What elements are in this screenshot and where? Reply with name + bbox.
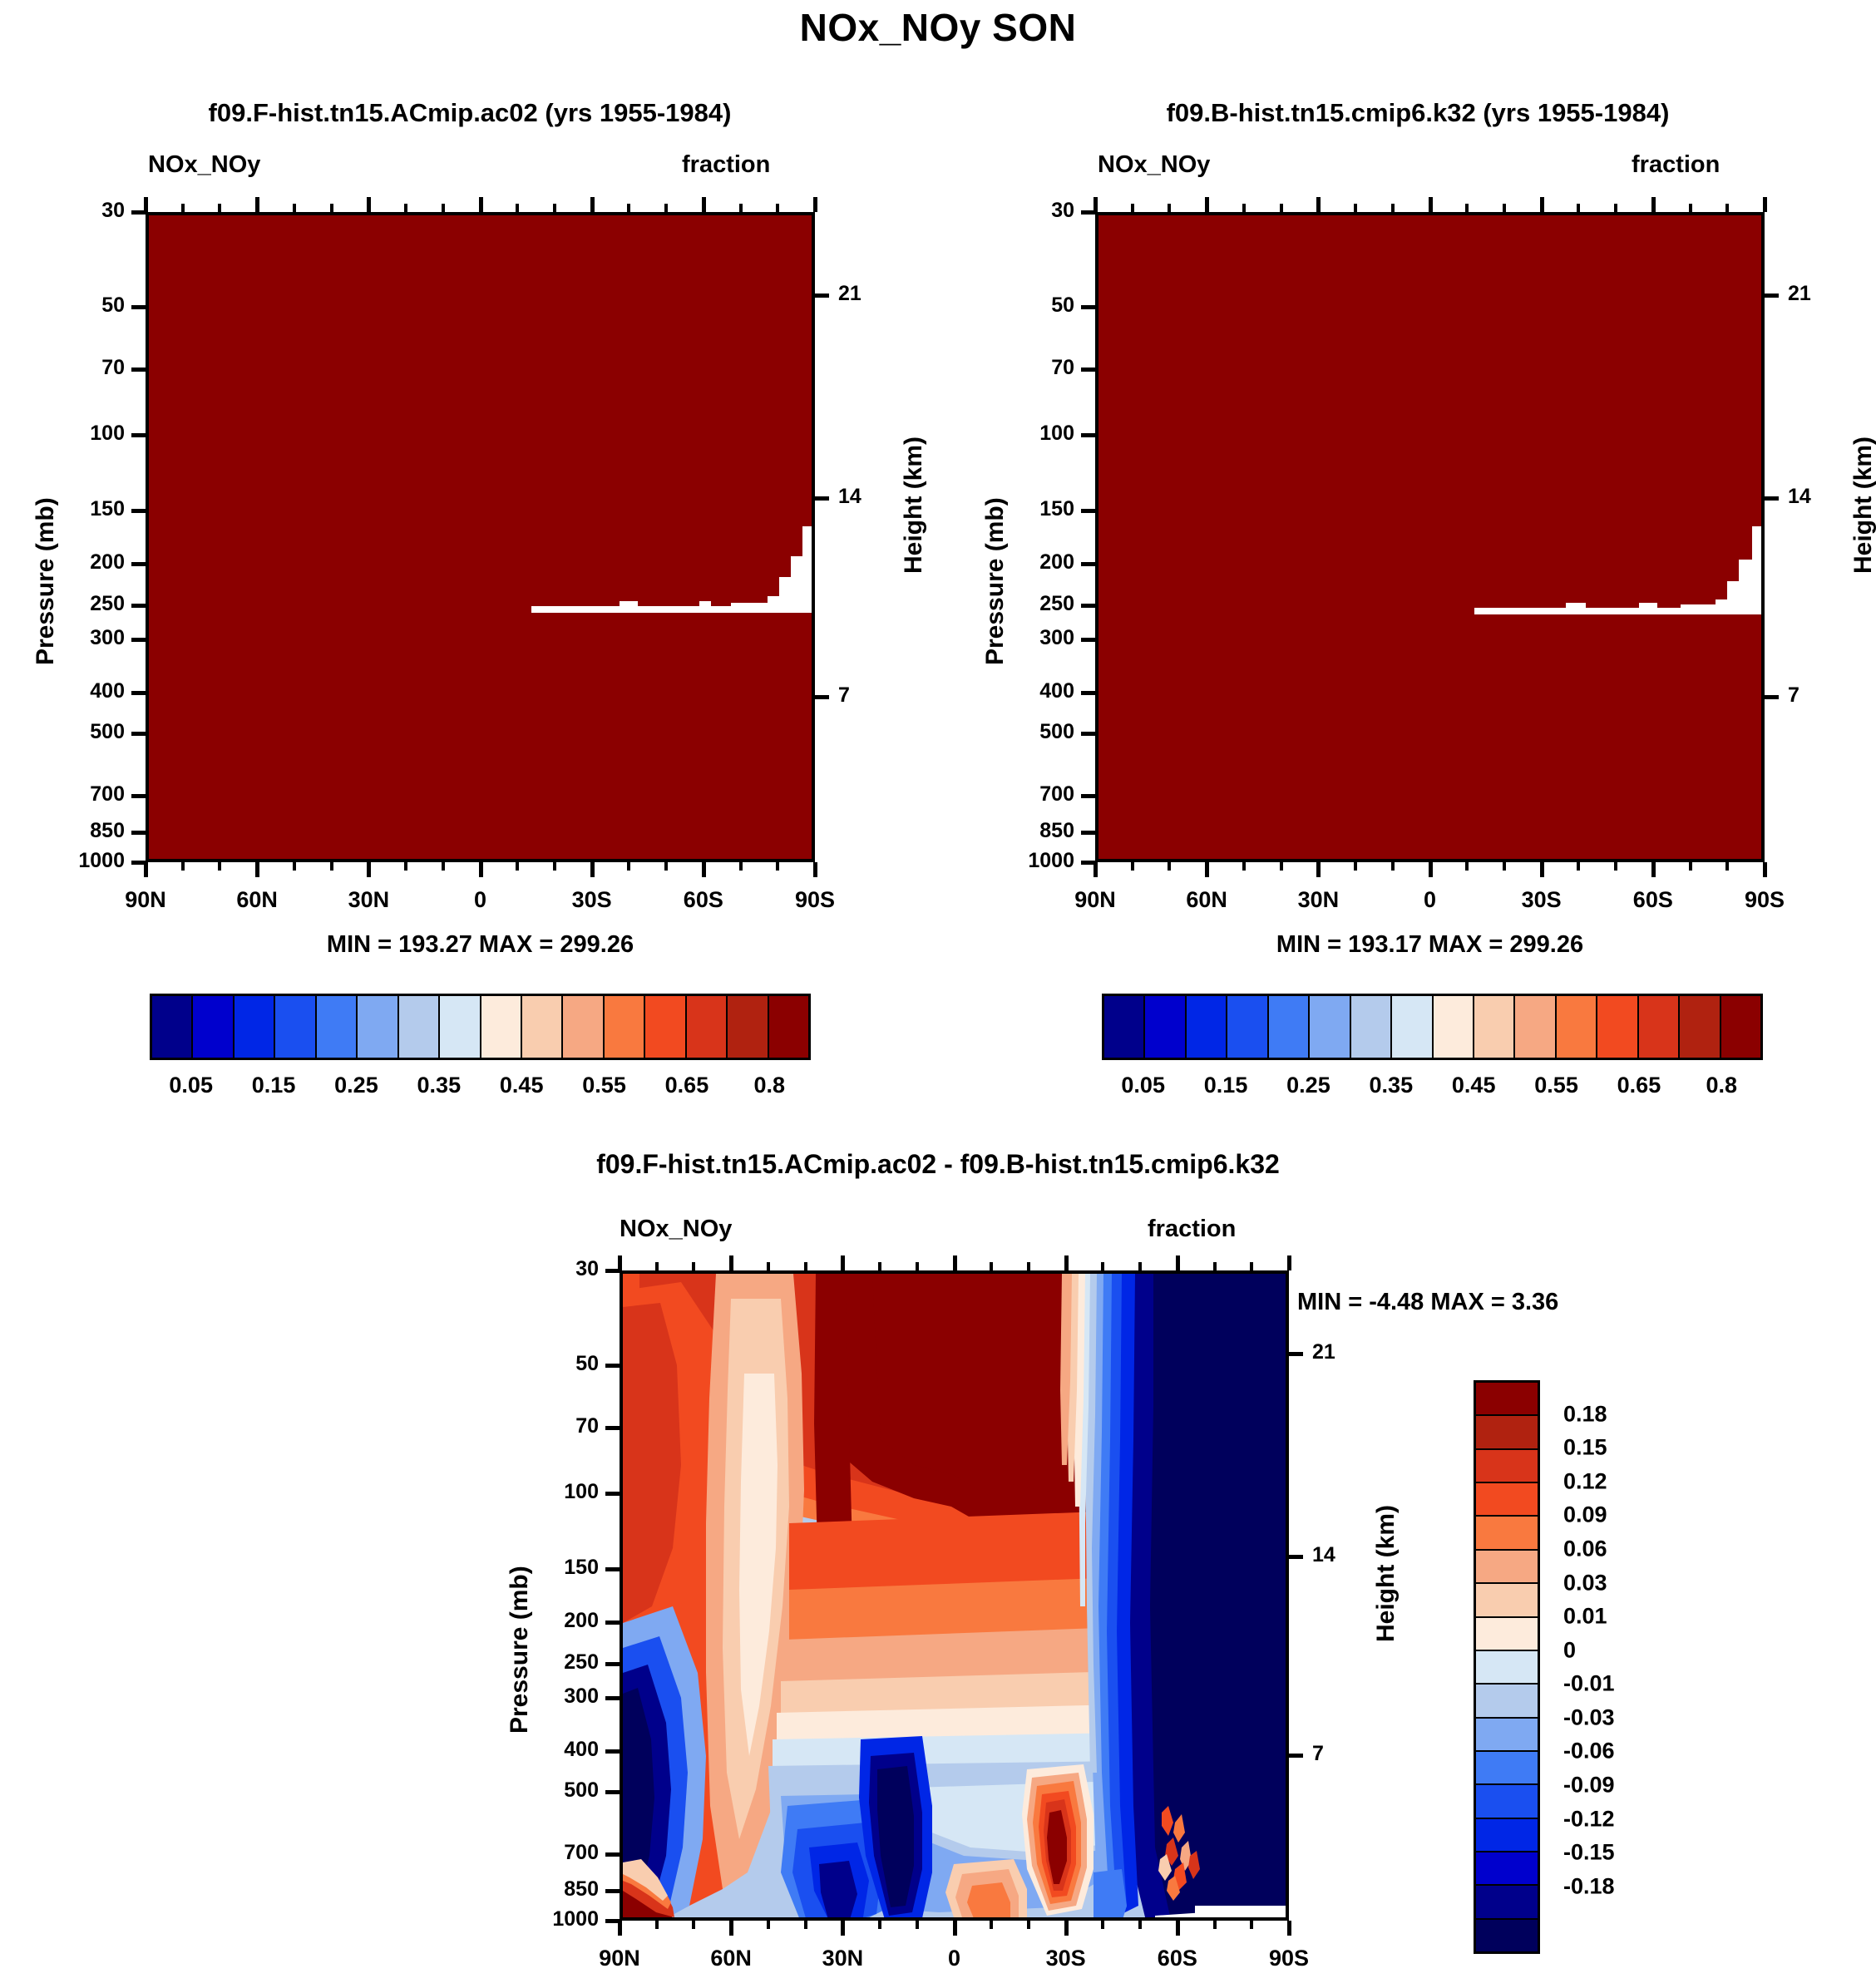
y-tick-label: 50 [21,294,125,318]
x-minor-tick-bottom [1138,1921,1142,1929]
panel-diff-title: f09.F-hist.tn15.ACmip.ac02 - f09.B-hist.… [314,1149,1562,1180]
x-tick-label: 60N [1148,887,1265,913]
colorbar-cell [645,996,686,1058]
y-tick-right-label: 7 [1788,683,1854,708]
x-tick-bottom [1064,1921,1069,1936]
x-tick-top [1429,197,1433,212]
colorbar-label: 0.45 [1452,1073,1496,1098]
colorbar-cell [563,996,604,1058]
colorbar-label: -0.09 [1563,1773,1615,1798]
x-tick-label: 0 [422,887,539,913]
y-tick-label: 850 [970,819,1074,843]
colorbar-label: -0.01 [1563,1671,1615,1697]
colorbar-cell [317,996,358,1058]
colorbar-cell [1476,1819,1538,1852]
colorbar-label: 0.8 [1706,1073,1738,1098]
panel-left-variable-label: NOx_NOy [148,151,260,179]
y-tick [1081,638,1095,642]
y-tick [605,1749,620,1754]
x-minor-tick-top [692,1262,695,1270]
y-tick [1081,562,1095,566]
x-minor-tick-top [1101,1262,1104,1270]
x-tick-label: 30N [310,887,427,913]
y-tick-right-label: 14 [1312,1543,1379,1567]
x-minor-tick-bottom [1280,862,1283,871]
y-tick-label: 300 [21,626,125,650]
x-minor-tick-top [776,204,779,212]
y-tick-label: 100 [970,422,1074,446]
x-minor-tick-bottom [627,862,630,871]
y-tick [605,1852,620,1857]
y-tick-right-label: 14 [838,485,905,509]
colorbar-cell [1187,996,1227,1058]
x-minor-tick-top [916,1262,919,1270]
y-tick [605,1364,620,1368]
colorbar-label: 0.18 [1563,1401,1607,1427]
colorbar-cell [275,996,316,1058]
y-tick-right [1289,1555,1303,1559]
colorbar-cell [234,996,275,1058]
panel-right-colorbar [1102,994,1763,1060]
y-tick-right [815,496,829,501]
y-tick-right-label: 21 [1312,1340,1379,1364]
x-tick-bottom [144,862,148,877]
colorbar-label: 0.12 [1563,1468,1607,1494]
colorbar-label: 0.03 [1563,1570,1607,1596]
y-tick-right [1765,294,1779,298]
x-minor-tick-bottom [916,1921,919,1929]
colorbar-cell [1476,1584,1538,1617]
x-tick-top [255,197,259,212]
x-minor-tick-bottom [1577,862,1580,871]
x-tick-bottom [1429,862,1433,877]
x-tick-top [953,1255,957,1270]
colorbar-cell [1476,1651,1538,1685]
y-tick [131,509,146,513]
x-minor-tick-bottom [692,1921,695,1929]
y-tick-label: 150 [970,497,1074,521]
x-minor-tick-bottom [776,862,779,871]
x-minor-tick-top [655,1262,659,1270]
y-tick [131,732,146,736]
colorbar-cell [687,996,728,1058]
y-tick-label: 70 [495,1414,599,1438]
y-tick-label: 250 [21,592,125,616]
colorbar-cell [728,996,768,1058]
colorbar-label: -0.12 [1563,1806,1615,1832]
y-tick-label: 400 [495,1738,599,1762]
x-minor-tick-top [404,204,407,212]
colorbar-cell [1476,1416,1538,1449]
x-minor-tick-bottom [804,1921,807,1929]
x-tick-bottom [1316,862,1321,877]
colorbar-cell [1515,996,1556,1058]
y-tick-right [1289,1352,1303,1356]
y-tick [605,1696,620,1700]
x-minor-tick-bottom [1168,862,1171,871]
y-tick [1081,691,1095,695]
y-tick-label: 30 [495,1257,599,1281]
y-tick-label: 100 [495,1480,599,1504]
x-minor-tick-top [1213,1262,1217,1270]
colorbar-label: 0.05 [1121,1073,1165,1098]
x-tick-bottom [1763,862,1767,877]
y-tick [605,1790,620,1794]
colorbar-cell [1476,1618,1538,1651]
colorbar-cell [481,996,522,1058]
colorbar-cell [1310,996,1350,1058]
panel-right-title: f09.B-hist.tn15.cmip6.k32 (yrs 1955-1984… [973,98,1863,128]
y-tick [605,1662,620,1666]
x-minor-tick-bottom [516,862,519,871]
y-tick-label: 250 [495,1650,599,1675]
x-tick-bottom [841,1921,845,1936]
y-tick-label: 500 [970,720,1074,744]
x-minor-tick-bottom [990,1921,993,1929]
panel-right-minmax: MIN = 193.17 MAX = 299.26 [1095,931,1765,959]
x-minor-tick-bottom [218,862,221,871]
x-minor-tick-top [1689,204,1692,212]
y-tick-label: 200 [970,550,1074,575]
x-minor-tick-bottom [1250,1921,1253,1929]
panel-left-units-label: fraction [682,151,770,179]
x-tick-top [1205,197,1209,212]
colorbar-label: 0.65 [1617,1073,1661,1098]
y-tick-label: 30 [970,199,1074,223]
x-minor-tick-bottom [1213,1921,1217,1929]
x-tick-label: 90N [561,1946,678,1971]
colorbar-label: 0.55 [582,1073,626,1098]
x-minor-tick-bottom [404,862,407,871]
y-tick [131,638,146,642]
x-tick-label: 90S [1706,887,1823,913]
x-tick-label: 90S [1231,1946,1347,1971]
colorbar-cell [358,996,398,1058]
colorbar-label: -0.18 [1563,1873,1615,1899]
x-minor-tick-top [293,204,296,212]
x-minor-tick-top [330,204,333,212]
y-tick [131,794,146,798]
x-tick-bottom [813,862,817,877]
x-minor-tick-top [804,1262,807,1270]
y-tick-label: 70 [970,356,1074,380]
x-tick-top [813,197,817,212]
x-minor-tick-top [990,1262,993,1270]
x-minor-tick-top [1168,204,1171,212]
colorbar-cell [1476,1920,1538,1951]
y-tick-label: 250 [970,592,1074,616]
colorbar-cell [1639,996,1680,1058]
x-minor-tick-bottom [767,1921,770,1929]
panel-left-plot-area [146,212,815,862]
y-tick [131,305,146,309]
x-tick-bottom [1205,862,1209,877]
colorbar-label: 0.05 [169,1073,213,1098]
colorbar-cell [1351,996,1392,1058]
panel-diff-units-label: fraction [1148,1216,1236,1243]
x-tick-label: 60S [1595,887,1711,913]
x-tick-label: 60S [645,887,762,913]
panel-diff-plot-area [620,1270,1289,1921]
y-tick-label: 30 [21,199,125,223]
x-tick-top [1094,197,1098,212]
y-tick-label: 700 [970,782,1074,807]
y-tick-right-label: 7 [838,683,905,708]
x-minor-tick-bottom [1242,862,1246,871]
y-tick-right-label: 7 [1312,1742,1379,1766]
x-minor-tick-bottom [1131,862,1134,871]
x-minor-tick-bottom [1354,862,1357,871]
y-tick [1081,831,1095,835]
colorbar-cell [1476,1752,1538,1785]
colorbar-label: 0.15 [1563,1435,1607,1461]
x-tick-bottom [1651,862,1656,877]
y-tick-label: 50 [970,294,1074,318]
panel-right-colorbar-labels: 0.050.150.250.350.450.550.650.8 [1102,1073,1763,1103]
colorbar-cell [1476,1852,1538,1886]
x-minor-tick-top [1725,204,1729,212]
y-tick-label: 850 [21,819,125,843]
x-minor-tick-bottom [330,862,333,871]
x-tick-label: 30N [784,1946,901,1971]
colorbar-cell [1476,1450,1538,1483]
colorbar-cell [522,996,563,1058]
x-tick-top [367,197,371,212]
x-minor-tick-top [181,204,185,212]
panel-left-colorbar-labels: 0.050.150.250.350.450.550.650.8 [150,1073,811,1103]
y-tick-label: 1000 [21,849,125,873]
colorbar-label: 0.15 [1204,1073,1248,1098]
x-minor-tick-bottom [1027,1921,1030,1929]
x-tick-top [1176,1255,1180,1270]
x-tick-top [1064,1255,1069,1270]
y-tick [1081,305,1095,309]
panel-left-title: f09.F-hist.tn15.ACmip.ac02 (yrs 1955-198… [25,98,915,128]
x-tick-label: 30S [1484,887,1600,913]
x-tick-top [702,197,706,212]
x-minor-tick-bottom [1391,862,1395,871]
colorbar-cell [440,996,481,1058]
y-tick [1081,604,1095,608]
y-tick [1081,732,1095,736]
x-minor-tick-bottom [655,1921,659,1929]
colorbar-label: 0.06 [1563,1536,1607,1561]
x-minor-tick-top [1503,204,1506,212]
x-minor-tick-top [1280,204,1283,212]
y-tick-label: 500 [21,720,125,744]
y-tick [131,368,146,372]
x-tick-label: 0 [1372,887,1488,913]
panel-left-missing-region [149,215,815,862]
colorbar-cell [605,996,645,1058]
colorbar-label: -0.06 [1563,1739,1615,1764]
x-tick-top [590,197,595,212]
y-tick-right [1765,496,1779,501]
y-tick-label: 200 [495,1609,599,1633]
x-minor-tick-bottom [878,1921,881,1929]
y-tick-label: 400 [21,679,125,703]
x-minor-tick-top [627,204,630,212]
colorbar-cell [1434,996,1474,1058]
colorbar-label: 0.01 [1563,1604,1607,1630]
colorbar-cell [1476,1785,1538,1818]
panel-diff-yaxis-right-title: Height (km) [1372,1505,1400,1642]
x-minor-tick-top [442,204,445,212]
x-tick-bottom [367,862,371,877]
y-tick-label: 1000 [970,849,1074,873]
x-tick-label: 90N [1037,887,1153,913]
x-minor-tick-bottom [664,862,668,871]
colorbar-cell [193,996,234,1058]
y-tick [605,1567,620,1571]
colorbar-cell [399,996,440,1058]
colorbar-label: 0.65 [665,1073,709,1098]
y-tick [131,831,146,835]
x-tick-top [1651,197,1656,212]
x-minor-tick-bottom [1689,862,1692,871]
x-tick-top [618,1255,622,1270]
x-minor-tick-top [218,204,221,212]
y-tick-label: 500 [495,1778,599,1803]
colorbar-label: -0.15 [1563,1840,1615,1866]
x-tick-label: 90S [757,887,873,913]
x-tick-top [841,1255,845,1270]
y-tick-label: 300 [495,1685,599,1709]
x-minor-tick-bottom [739,862,743,871]
y-tick-right [815,294,829,298]
y-tick [605,1889,620,1893]
x-tick-bottom [1540,862,1544,877]
colorbar-cell [1557,996,1597,1058]
colorbar-label: 0.8 [754,1073,786,1098]
panel-right-units-label: fraction [1632,151,1720,179]
colorbar-cell [1392,996,1433,1058]
colorbar-cell [1476,1551,1538,1584]
x-tick-bottom [729,1921,733,1936]
x-tick-bottom [479,862,483,877]
x-minor-tick-top [1391,204,1395,212]
y-tick-right-label: 21 [1788,282,1854,306]
x-tick-top [479,197,483,212]
colorbar-label: 0.25 [334,1073,378,1098]
y-tick-label: 700 [495,1841,599,1865]
x-minor-tick-bottom [1614,862,1617,871]
x-minor-tick-bottom [442,862,445,871]
x-minor-tick-bottom [1465,862,1469,871]
y-tick-label: 850 [495,1877,599,1902]
y-tick-label: 50 [495,1352,599,1376]
x-tick-top [1763,197,1767,212]
colorbar-cell [1269,996,1310,1058]
x-minor-tick-top [1465,204,1469,212]
colorbar-cell [1476,1483,1538,1517]
colorbar-label: 0.25 [1286,1073,1330,1098]
x-tick-label: 30S [1008,1946,1124,1971]
x-tick-bottom [953,1921,957,1936]
y-tick-right-label: 21 [838,282,905,306]
x-minor-tick-top [1250,1262,1253,1270]
y-tick [605,1426,620,1430]
colorbar-label: 0.55 [1534,1073,1578,1098]
x-minor-tick-bottom [181,862,185,871]
colorbar-cell [152,996,193,1058]
y-tick [1081,509,1095,513]
colorbar-cell [1721,996,1760,1058]
colorbar-label: 0 [1563,1637,1576,1663]
y-tick-label: 150 [495,1556,599,1580]
y-tick [131,691,146,695]
y-tick [1081,368,1095,372]
colorbar-cell [1227,996,1268,1058]
x-minor-tick-bottom [293,862,296,871]
panel-left-colorbar [150,994,811,1060]
x-minor-tick-top [1354,204,1357,212]
x-tick-label: 30S [534,887,650,913]
y-tick [605,1620,620,1625]
y-tick-label: 300 [970,626,1074,650]
x-tick-bottom [1094,862,1098,877]
y-tick-label: 70 [21,356,125,380]
x-tick-bottom [618,1921,622,1936]
y-tick [131,562,146,566]
y-tick-label: 1000 [495,1907,599,1931]
panel-diff-variable-label: NOx_NOy [620,1216,732,1243]
x-tick-label: 0 [896,1946,1013,1971]
colorbar-cell [1476,1719,1538,1752]
panel-diff-minmax: MIN = -4.48 MAX = 3.36 [1297,1289,1813,1316]
x-minor-tick-top [1138,1262,1142,1270]
colorbar-cell [1476,1685,1538,1718]
x-minor-tick-top [1614,204,1617,212]
x-minor-tick-top [1577,204,1580,212]
x-minor-tick-top [553,204,556,212]
x-minor-tick-bottom [1503,862,1506,871]
x-tick-bottom [1287,1921,1291,1936]
x-minor-tick-top [664,204,668,212]
colorbar-label: -0.03 [1563,1704,1615,1730]
colorbar-cell [1145,996,1186,1058]
x-tick-label: 30N [1260,887,1376,913]
x-tick-bottom [590,862,595,877]
y-tick-label: 100 [21,422,125,446]
colorbar-cell [1474,996,1515,1058]
colorbar-cell [1476,1517,1538,1550]
y-tick [131,433,146,437]
x-minor-tick-top [1027,1262,1030,1270]
x-tick-top [1540,197,1544,212]
x-minor-tick-top [1131,204,1134,212]
colorbar-label: 0.09 [1563,1502,1607,1528]
panel-diff-colorbar-labels: 0.180.150.120.090.060.030.010-0.01-0.03-… [1552,1380,1718,1954]
x-minor-tick-top [767,1262,770,1270]
y-tick-right [815,695,829,699]
colorbar-label: 0.45 [500,1073,544,1098]
panel-right-plot-area [1095,212,1765,862]
colorbar-cell [1476,1886,1538,1919]
x-minor-tick-bottom [1725,862,1729,871]
x-tick-top [1287,1255,1291,1270]
y-tick-label: 700 [21,782,125,807]
x-minor-tick-top [516,204,519,212]
colorbar-cell [1104,996,1145,1058]
x-tick-label: 60S [1119,1946,1236,1971]
x-minor-tick-top [739,204,743,212]
x-minor-tick-bottom [553,862,556,871]
y-tick-right [1765,695,1779,699]
y-tick-right [1289,1754,1303,1758]
x-tick-bottom [1176,1921,1180,1936]
page-title: NOx_NOy SON [0,5,1876,50]
